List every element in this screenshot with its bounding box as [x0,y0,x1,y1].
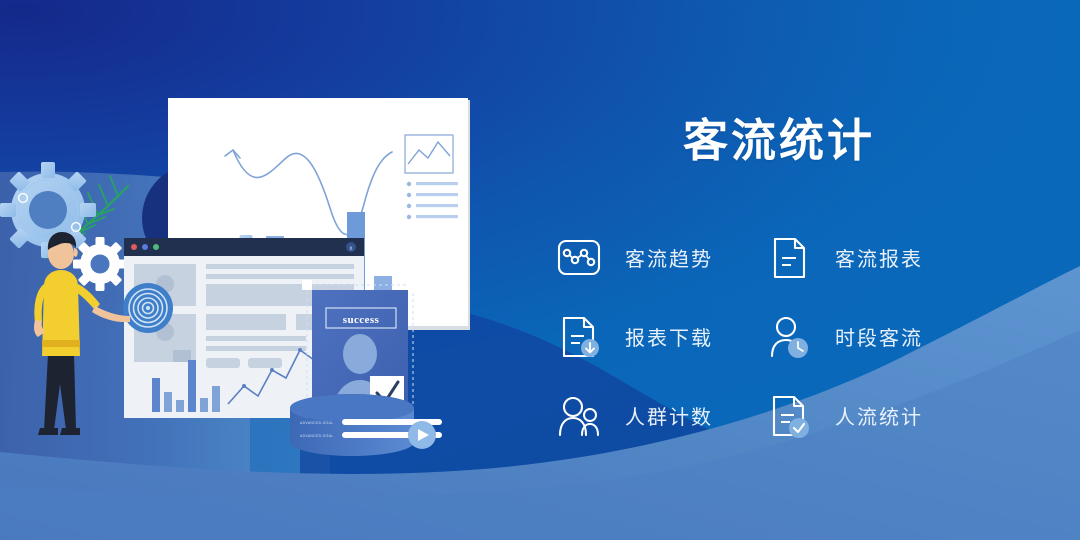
progress-label-1: ADVANCED.GOAL [300,421,334,425]
person-clock-icon [766,314,812,360]
feature-item-trend[interactable]: 客流趋势 [556,218,766,297]
feature-item-flow-stats[interactable]: 人流统计 [766,376,976,455]
document-check-icon [766,393,812,439]
document-download-icon [556,314,602,360]
document-lines-icon [766,235,812,281]
svg-text:x: x [350,246,353,252]
feature-label: 客流报表 [835,243,923,272]
line-chart-box-icon [556,235,602,281]
feature-item-crowd-count[interactable]: 人群计数 [556,376,766,455]
feature-item-time-flow[interactable]: 时段客流 [766,297,976,376]
feature-list: 客流趋势 客流报表 [556,218,976,455]
dashboard-illustration: x [0,78,560,478]
two-people-icon [556,393,602,439]
feature-item-report[interactable]: 客流报表 [766,218,976,297]
feature-label: 时段客流 [835,322,923,351]
gear-small-left [73,237,127,291]
fingerprint-icon [123,283,173,333]
success-label: success [343,314,380,326]
feature-label: 人群计数 [625,401,713,430]
page-title: 客流统计 [683,118,875,163]
feature-row: 人群计数 人流统计 [556,376,976,455]
gear-large-left [0,162,96,258]
sheet-preview-panel [405,135,453,173]
progress-cylinder: ADVANCED.GOAL ADVANCED.GOAL [290,394,442,456]
feature-label: 报表下载 [625,322,713,351]
promo-banner: x [0,0,1080,540]
feature-item-download[interactable]: 报表下载 [556,297,766,376]
feature-row: 报表下载 时段客流 [556,297,976,376]
feature-row: 客流趋势 客流报表 [556,218,976,297]
feature-label: 客流趋势 [625,243,713,272]
progress-label-2: ADVANCED.GOAL [300,434,334,438]
feature-label: 人流统计 [835,401,923,430]
